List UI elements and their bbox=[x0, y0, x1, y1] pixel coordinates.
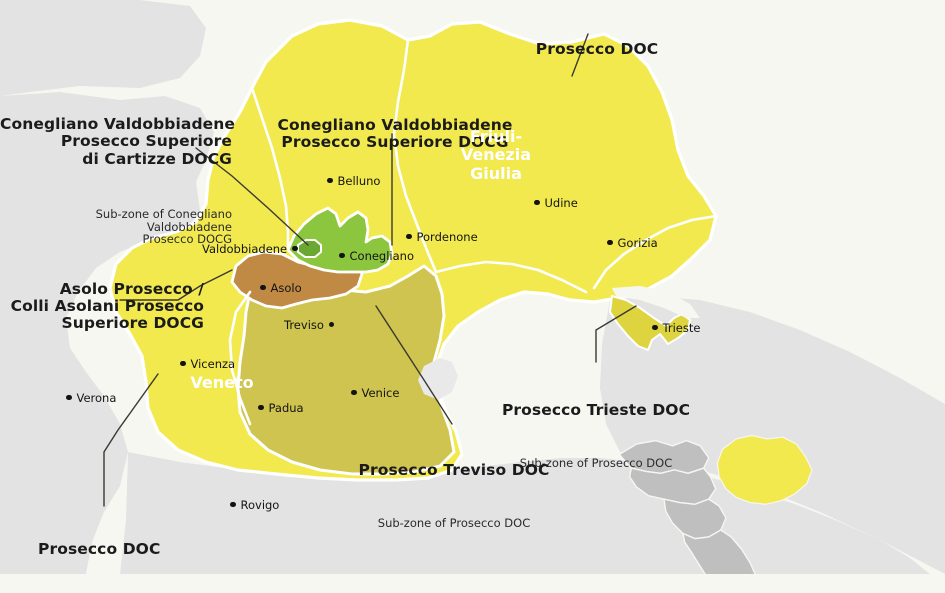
cartizze-docg-area bbox=[298, 240, 321, 257]
callout-prosecco-doc-bottom: Prosecco DOC bbox=[38, 506, 238, 593]
city-label-trieste: Trieste bbox=[663, 321, 701, 335]
city-label-valdobbiadene: Valdobbiadene bbox=[202, 242, 287, 256]
city-dot-pordenone bbox=[406, 234, 412, 240]
city-dot-vicenza bbox=[180, 361, 186, 367]
callout-asolo-prosecco-docg: Asolo Prosecco / Colli Asolani Prosecco … bbox=[0, 246, 204, 368]
city-trieste: Trieste bbox=[652, 320, 700, 335]
city-label-venice: Venice bbox=[362, 386, 400, 400]
city-dot-verona bbox=[66, 395, 72, 401]
callout-cartizze-title: Conegliano Valdobbiadene Prosecco Superi… bbox=[0, 116, 232, 168]
callout-prosecco-doc-top: Prosecco DOC bbox=[494, 6, 700, 93]
city-gorizia: Gorizia bbox=[607, 235, 658, 250]
city-dot-gorizia bbox=[607, 240, 613, 246]
city-label-padua: Padua bbox=[269, 401, 304, 415]
city-dot-conegliano bbox=[339, 253, 345, 259]
callout-prosecco-treviso-doc: Prosecco Treviso DOC Sub-zone of Prosecc… bbox=[344, 426, 564, 566]
callout-asolo-title: Asolo Prosecco / Colli Asolani Prosecco … bbox=[0, 281, 204, 333]
city-label-belluno: Belluno bbox=[338, 174, 381, 188]
city-dot-belluno bbox=[327, 178, 333, 184]
city-dot-udine bbox=[534, 200, 540, 206]
city-rovigo: Rovigo bbox=[230, 497, 279, 512]
city-dot-padua bbox=[258, 405, 264, 411]
city-label-vicenza: Vicenza bbox=[191, 357, 236, 371]
city-belluno: Belluno bbox=[327, 173, 380, 188]
city-label-verona: Verona bbox=[77, 391, 117, 405]
city-vicenza: Vicenza bbox=[180, 356, 235, 371]
city-dot-venice bbox=[351, 390, 357, 396]
city-label-conegliano: Conegliano bbox=[350, 249, 415, 263]
city-asolo: Asolo bbox=[260, 280, 302, 295]
prosecco-map: Prosecco DOC Conegliano Valdobbiadene Pr… bbox=[0, 0, 945, 574]
callout-trieste-title: Prosecco Trieste DOC bbox=[486, 402, 706, 419]
city-label-asolo: Asolo bbox=[271, 281, 302, 295]
city-dot-treviso bbox=[329, 322, 335, 328]
city-label-pordenone: Pordenone bbox=[417, 230, 478, 244]
region-label-veneto: Veneto bbox=[170, 374, 274, 392]
city-dot-valdobbiadene bbox=[292, 246, 298, 252]
city-label-treviso: Treviso bbox=[284, 318, 324, 332]
city-dot-trieste bbox=[652, 325, 658, 331]
city-label-rovigo: Rovigo bbox=[241, 498, 280, 512]
city-label-udine: Udine bbox=[545, 196, 578, 210]
city-dot-asolo bbox=[260, 285, 266, 291]
callout-prosecco-doc-bottom-title: Prosecco DOC bbox=[38, 541, 238, 558]
region-label-friuli-venezia-giulia: Friuli- Venezia Giulia bbox=[446, 128, 546, 183]
city-pordenone: Pordenone bbox=[406, 229, 478, 244]
city-verona: Verona bbox=[66, 390, 116, 405]
city-conegliano: Conegliano bbox=[339, 248, 414, 263]
callout-treviso-title: Prosecco Treviso DOC bbox=[344, 462, 564, 479]
callout-prosecco-doc-top-title: Prosecco DOC bbox=[494, 41, 700, 58]
callout-cartizze-subtitle: Sub-zone of Conegliano Valdobbiadene Pro… bbox=[0, 208, 232, 247]
callout-treviso-subtitle: Sub-zone of Prosecco DOC bbox=[344, 517, 564, 530]
city-label-gorizia: Gorizia bbox=[618, 236, 658, 250]
city-dot-rovigo bbox=[230, 502, 236, 508]
city-venice: Venice bbox=[351, 385, 399, 400]
city-treviso: Treviso bbox=[284, 317, 334, 332]
city-valdobbiadene: Valdobbiadene bbox=[202, 241, 298, 256]
city-padua: Padua bbox=[258, 400, 304, 415]
city-udine: Udine bbox=[534, 195, 578, 210]
